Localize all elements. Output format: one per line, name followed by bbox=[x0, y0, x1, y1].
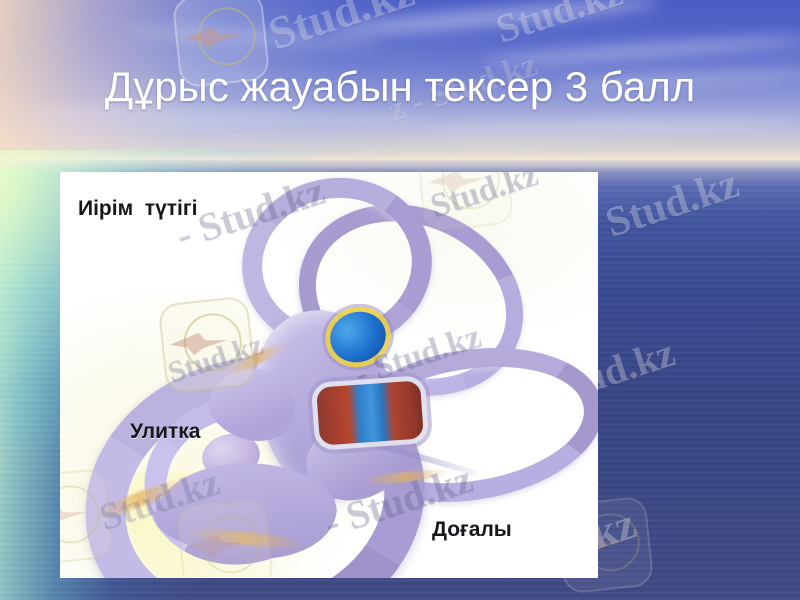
presentation-slide: Stud.kz Stud.kz z - Stud.kz Stud.kz - St… bbox=[0, 0, 800, 600]
label-dogaly-ozek: Доғалы өзек bbox=[432, 467, 512, 578]
round-window-cross-section bbox=[316, 380, 424, 445]
inner-ear-image-panel: - Stud.kz Stud.kz Stud.kz - Stud.kz - St… bbox=[60, 172, 598, 578]
label-ulitka: Улитка bbox=[130, 419, 200, 444]
label-iirim-tutigi: Иірім түтігі bbox=[78, 196, 197, 221]
inner-ear-illustration bbox=[60, 172, 598, 578]
label-dogaly-ozek-line1: Доғалы bbox=[432, 517, 512, 542]
page-title: Дұрыс жауабын тексер 3 балл bbox=[0, 62, 800, 112]
